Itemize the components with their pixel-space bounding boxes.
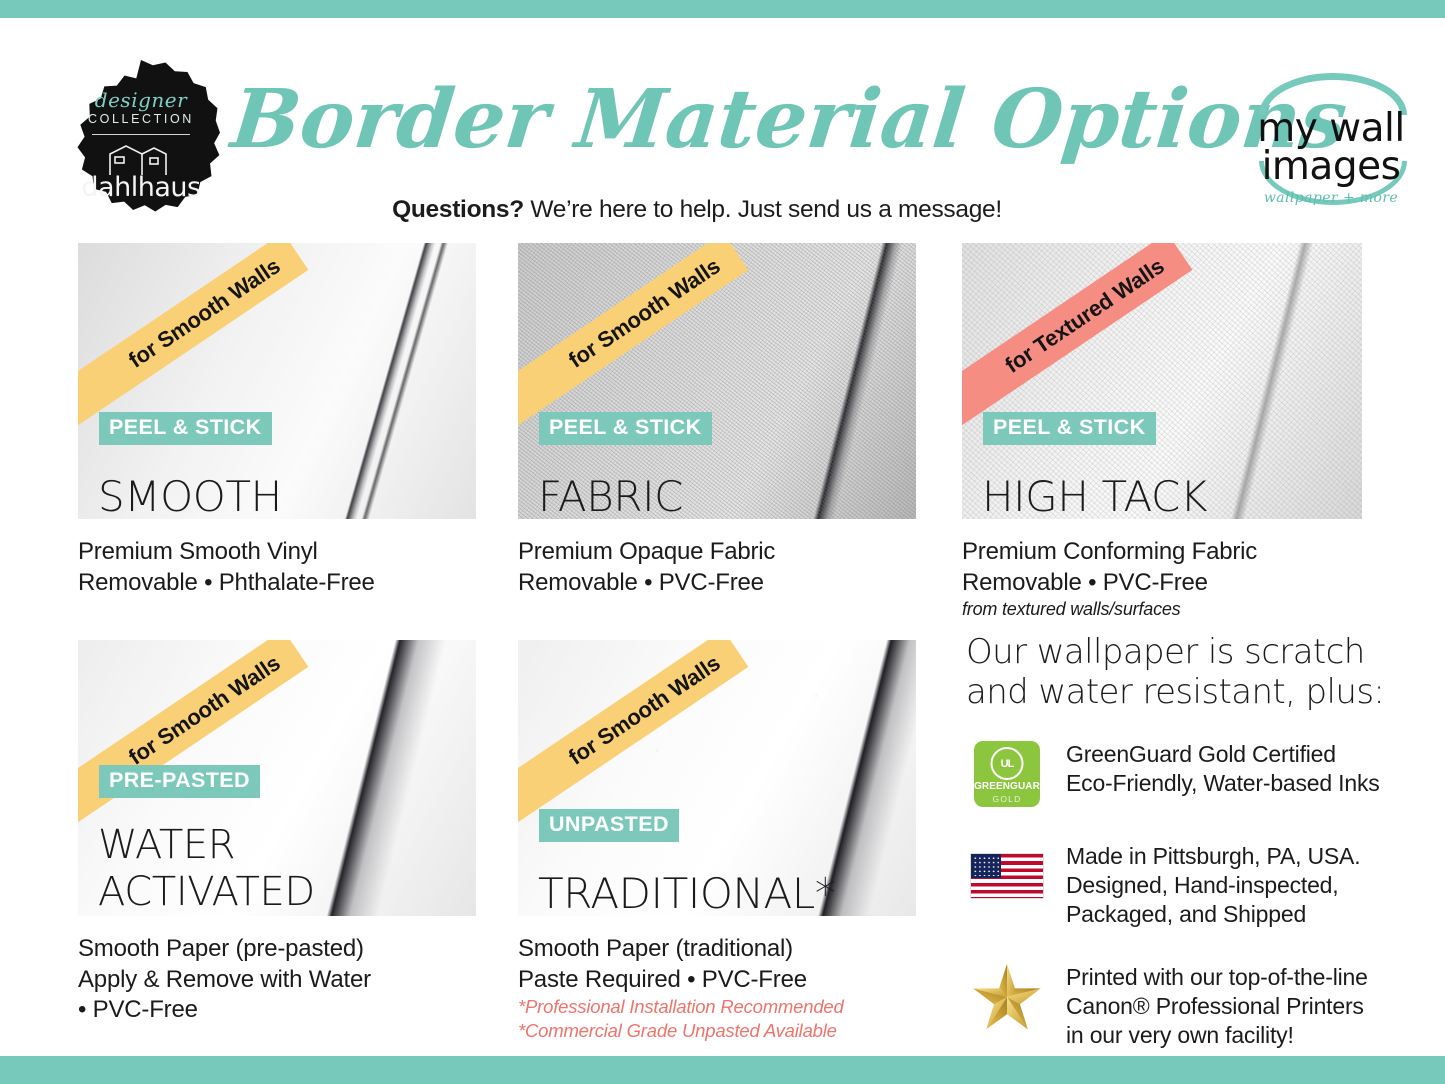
desc-line-2: Apply & Remove with Water xyxy=(78,965,476,996)
material-description: Premium Smooth Vinyl Removable • Phthala… xyxy=(78,537,476,598)
material-photo-traditional: for Smooth Walls UNPASTED TRADITIONAL* xyxy=(518,640,916,916)
desc-line-1: Premium Conforming Fabric xyxy=(962,537,1362,568)
usa-flag xyxy=(971,854,1043,898)
material-name: WATER ACTIVATED xyxy=(98,822,315,916)
top-teal-band xyxy=(0,0,1445,18)
page-title: Border Material Options xyxy=(226,66,1168,176)
material-description: Smooth Paper (traditional) Paste Require… xyxy=(518,934,916,1043)
house-icon xyxy=(106,142,170,176)
material-photo-water-activated: for Smooth Walls PRE-PASTED WATER ACTIVA… xyxy=(78,640,476,916)
dahlhaus-collection-text: COLLECTION xyxy=(62,112,220,126)
my-wall-images-logo: my wall images wallpaper + more xyxy=(1245,73,1417,213)
dahlhaus-divider xyxy=(92,134,190,135)
desc-line-1: Smooth Paper (pre-pasted) xyxy=(78,934,476,965)
greenguard-name: GREENGUARD xyxy=(974,781,1040,792)
material-name-line-2: ACTIVATED xyxy=(98,869,315,916)
usa-flag-icon xyxy=(966,840,1048,912)
material-card-water-activated[interactable]: for Smooth Walls PRE-PASTED WATER ACTIVA… xyxy=(78,640,476,1026)
material-photo-high-tack: for Textured Walls PEEL & STICK HIGH TAC… xyxy=(962,243,1362,519)
material-name: TRADITIONAL* xyxy=(538,871,835,916)
application-badge: PEEL & STICK xyxy=(99,412,272,445)
subtitle-questions-label: Questions? xyxy=(392,196,524,223)
material-description: Smooth Paper (pre-pasted) Apply & Remove… xyxy=(78,934,476,1026)
feature-text: Printed with our top-of-the-line Canon® … xyxy=(1066,961,1368,1050)
material-name: SMOOTH xyxy=(98,474,282,519)
application-badge: PRE-PASTED xyxy=(99,765,260,798)
material-card-fabric[interactable]: for Smooth Walls PEEL & STICK FABRIC Pre… xyxy=(518,243,916,598)
header: designer COLLECTION dahlhaus Border Mate… xyxy=(0,18,1445,223)
greenguard-gold-label: GOLD xyxy=(974,794,1040,804)
desc-warning-1: *Professional Installation Recommended xyxy=(518,995,916,1019)
feature-made-in-usa: Made in Pittsburgh, PA, USA. Designed, H… xyxy=(966,840,1386,929)
mwi-line1: my wall xyxy=(1245,109,1417,149)
features-heading-line-2: and water resistant, plus: xyxy=(966,672,1386,712)
desc-line-2: Removable • PVC-Free xyxy=(518,568,916,599)
dahlhaus-wordmark: dahlhaus xyxy=(62,172,220,203)
gold-star xyxy=(971,962,1043,1032)
feature-canon-printers: Printed with our top-of-the-line Canon® … xyxy=(966,961,1386,1050)
feature-greenguard: UL GREENGUARD GOLD GreenGuard Gold Certi… xyxy=(966,738,1386,810)
material-description: Premium Conforming Fabric Removable • PV… xyxy=(962,537,1362,621)
material-photo-smooth: for Smooth Walls PEEL & STICK SMOOTH xyxy=(78,243,476,519)
feature-line-3: Packaged, and Shipped xyxy=(1066,900,1360,929)
ul-mark: UL xyxy=(991,747,1024,780)
material-description: Premium Opaque Fabric Removable • PVC-Fr… xyxy=(518,537,916,598)
desc-note: from textured walls/surfaces xyxy=(962,598,1362,621)
bottom-teal-band xyxy=(0,1056,1445,1084)
flag-canton xyxy=(971,854,1001,878)
desc-line-3: • PVC-Free xyxy=(78,995,476,1026)
material-name-line-1: WATER xyxy=(98,822,315,869)
feature-text: GreenGuard Gold Certified Eco-Friendly, … xyxy=(1066,738,1380,798)
subtitle-help-text: We’re here to help. Just send us a messa… xyxy=(524,196,1002,223)
desc-line-2: Removable • Phthalate-Free xyxy=(78,568,476,599)
feature-text: Made in Pittsburgh, PA, USA. Designed, H… xyxy=(1066,840,1360,929)
greenguard-badge: UL GREENGUARD GOLD xyxy=(974,741,1040,807)
desc-line-1: Premium Smooth Vinyl xyxy=(78,537,476,568)
material-name: HIGH TACK xyxy=(982,474,1207,519)
desc-line-1: Smooth Paper (traditional) xyxy=(518,934,916,965)
greenguard-gold-icon: UL GREENGUARD GOLD xyxy=(966,738,1048,810)
material-name: FABRIC xyxy=(538,474,683,519)
application-badge: PEEL & STICK xyxy=(983,412,1156,445)
mwi-tagline: wallpaper + more xyxy=(1245,190,1417,206)
dahlhaus-designer-text: designer xyxy=(62,88,220,112)
feature-line-2: Eco-Friendly, Water-based Inks xyxy=(1066,769,1380,798)
application-badge: PEEL & STICK xyxy=(539,412,712,445)
desc-warning-2: *Commercial Grade Unpasted Available xyxy=(518,1019,916,1043)
feature-line-2: Canon® Professional Printers xyxy=(1066,992,1368,1021)
dahlhaus-designer-collection-logo: designer COLLECTION dahlhaus xyxy=(62,60,220,218)
features-panel: Our wallpaper is scratch and water resis… xyxy=(966,632,1386,1050)
features-heading: Our wallpaper is scratch and water resis… xyxy=(966,632,1386,712)
flag-stars xyxy=(973,856,999,876)
feature-line-2: Designed, Hand-inspected, xyxy=(1066,871,1360,900)
material-card-traditional[interactable]: for Smooth Walls UNPASTED TRADITIONAL* S… xyxy=(518,640,916,1043)
feature-line-1: Printed with our top-of-the-line xyxy=(1066,963,1368,992)
material-photo-fabric: for Smooth Walls PEEL & STICK FABRIC xyxy=(518,243,916,519)
feature-line-1: GreenGuard Gold Certified xyxy=(1066,740,1380,769)
feature-line-1: Made in Pittsburgh, PA, USA. xyxy=(1066,842,1360,871)
gold-star-icon xyxy=(966,961,1048,1033)
page-subtitle: Questions? We’re here to help. Just send… xyxy=(232,196,1162,224)
desc-line-2: Paste Required • PVC-Free xyxy=(518,965,916,996)
features-heading-line-1: Our wallpaper is scratch xyxy=(966,632,1386,672)
desc-line-1: Premium Opaque Fabric xyxy=(518,537,916,568)
feature-line-3: in our very own facility! xyxy=(1066,1021,1368,1050)
application-badge: UNPASTED xyxy=(539,809,679,842)
infographic-page: designer COLLECTION dahlhaus Border Mate… xyxy=(0,0,1445,1084)
mwi-line2: images xyxy=(1245,147,1417,187)
material-card-smooth[interactable]: for Smooth Walls PEEL & STICK SMOOTH Pre… xyxy=(78,243,476,598)
desc-line-2: Removable • PVC-Free xyxy=(962,568,1362,599)
material-card-high-tack[interactable]: for Textured Walls PEEL & STICK HIGH TAC… xyxy=(962,243,1362,621)
